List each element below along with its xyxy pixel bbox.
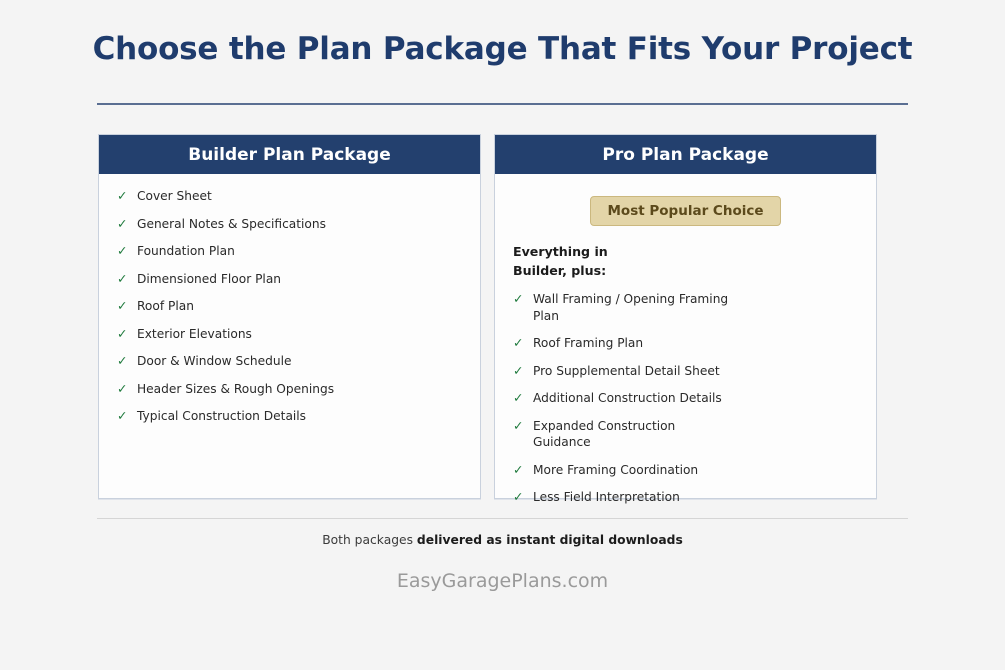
feature-label: Header Sizes & Rough Openings [137, 381, 462, 398]
list-item: ✓ Additional Construction Details [513, 390, 858, 407]
list-item: ✓ Roof Plan [117, 298, 462, 315]
check-icon: ✓ [117, 381, 137, 398]
check-icon: ✓ [117, 298, 137, 315]
feature-label: Pro Supplemental Detail Sheet [533, 363, 733, 380]
feature-label: Less Field Interpretation [533, 489, 733, 506]
list-item: ✓ Roof Framing Plan [513, 335, 858, 352]
feature-list-builder: ✓ Cover Sheet ✓ General Notes & Specific… [117, 188, 462, 425]
feature-label: Roof Framing Plan [533, 335, 733, 352]
feature-label: Typical Construction Details [137, 408, 462, 425]
card-header-pro: Pro Plan Package [495, 135, 876, 174]
check-icon: ✓ [117, 353, 137, 370]
status-badge: Most Popular Choice [590, 196, 780, 226]
list-item: ✓ More Framing Coordination [513, 462, 858, 479]
check-icon: ✓ [513, 462, 533, 479]
check-icon: ✓ [513, 390, 533, 407]
list-item: ✓ Expanded Construction Guidance [513, 418, 858, 451]
list-item: ✓ Exterior Elevations [117, 326, 462, 343]
list-item: ✓ Pro Supplemental Detail Sheet [513, 363, 858, 380]
footer-note-bold: delivered as instant digital downloads [417, 533, 683, 547]
feature-label: Wall Framing / Opening Framing Plan [533, 291, 733, 324]
list-item: ✓ Less Field Interpretation [513, 489, 858, 506]
feature-label: Cover Sheet [137, 188, 462, 205]
pro-intro-note: Everything in Builder, plus: [513, 242, 633, 280]
feature-label: Additional Construction Details [533, 390, 733, 407]
check-icon: ✓ [513, 291, 533, 308]
footer-divider [97, 518, 908, 519]
pricing-comparison-page: Choose the Plan Package That Fits Your P… [0, 0, 1005, 670]
list-item: ✓ Foundation Plan [117, 243, 462, 260]
footer-note: Both packages delivered as instant digit… [0, 533, 1005, 547]
title-divider [97, 103, 908, 105]
list-item: ✓ Header Sizes & Rough Openings [117, 381, 462, 398]
check-icon: ✓ [117, 188, 137, 205]
check-icon: ✓ [117, 271, 137, 288]
feature-label: Roof Plan [137, 298, 462, 315]
feature-label: Foundation Plan [137, 243, 462, 260]
list-item: ✓ Cover Sheet [117, 188, 462, 205]
card-body-builder: ✓ Cover Sheet ✓ General Notes & Specific… [99, 174, 480, 425]
feature-label: Dimensioned Floor Plan [137, 271, 462, 288]
feature-label: General Notes & Specifications [137, 216, 462, 233]
list-item: ✓ Dimensioned Floor Plan [117, 271, 462, 288]
check-icon: ✓ [513, 335, 533, 352]
card-header-builder: Builder Plan Package [99, 135, 480, 174]
feature-label: More Framing Coordination [533, 462, 733, 479]
check-icon: ✓ [117, 326, 137, 343]
check-icon: ✓ [513, 489, 533, 506]
check-icon: ✓ [117, 243, 137, 260]
feature-label: Exterior Elevations [137, 326, 462, 343]
package-card-builder[interactable]: Builder Plan Package ✓ Cover Sheet ✓ Gen… [98, 134, 481, 499]
feature-label: Door & Window Schedule [137, 353, 462, 370]
list-item: ✓ Wall Framing / Opening Framing Plan [513, 291, 858, 324]
check-icon: ✓ [117, 408, 137, 425]
list-item: ✓ Typical Construction Details [117, 408, 462, 425]
check-icon: ✓ [513, 418, 533, 435]
brand-name: EasyGaragePlans.com [0, 570, 1005, 592]
check-icon: ✓ [513, 363, 533, 380]
page-title: Choose the Plan Package That Fits Your P… [0, 31, 1005, 67]
footer-note-prefix: Both packages [322, 533, 417, 547]
badge-row: Most Popular Choice [513, 196, 858, 226]
card-body-pro: Most Popular Choice Everything in Builde… [495, 174, 876, 506]
list-item: ✓ Door & Window Schedule [117, 353, 462, 370]
package-card-pro[interactable]: Pro Plan Package Most Popular Choice Eve… [494, 134, 877, 499]
list-item: ✓ General Notes & Specifications [117, 216, 462, 233]
package-cards: Builder Plan Package ✓ Cover Sheet ✓ Gen… [98, 134, 878, 499]
feature-list-pro: ✓ Wall Framing / Opening Framing Plan ✓ … [513, 291, 858, 506]
check-icon: ✓ [117, 216, 137, 233]
feature-label: Expanded Construction Guidance [533, 418, 733, 451]
